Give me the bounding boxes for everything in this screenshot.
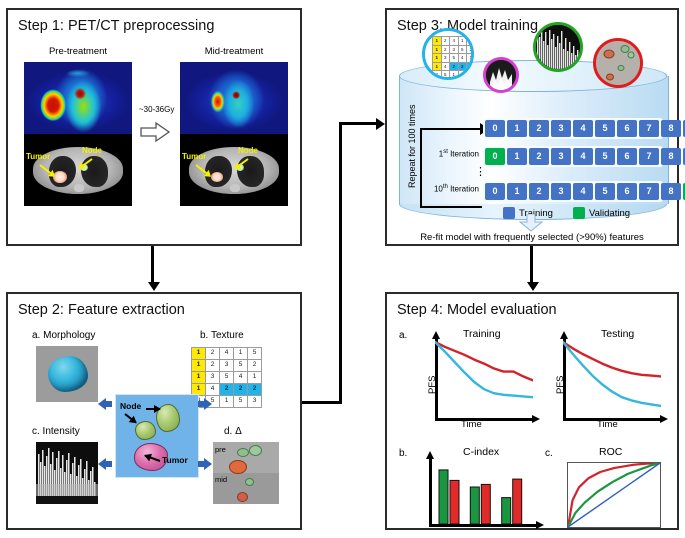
fold-cell: 5 <box>595 148 615 165</box>
connector-step2-to-step3-horizontal <box>339 122 379 125</box>
texture-cell: 1 <box>467 54 474 62</box>
mid-treatment-pet-image <box>180 62 288 134</box>
repeat-label: Repeat for 100 times <box>407 104 417 188</box>
connector-step3-to-step4 <box>530 246 533 284</box>
node-annotation-mid: Node <box>238 146 258 155</box>
fold-cell: 7 <box>639 148 659 165</box>
texture-cell: 5 <box>234 360 247 371</box>
fold-cell: 1 <box>507 148 527 165</box>
texture-cell: 2 <box>450 63 458 71</box>
refit-text: Re-fit model with frequently selected (>… <box>387 232 677 243</box>
fold-cell: 2 <box>529 120 549 137</box>
subpanel-letter-a: a. <box>399 330 407 341</box>
cindex-chart-title: C-index <box>463 446 499 458</box>
fold-cell: 2 <box>529 148 549 165</box>
texture-cell: 4 <box>459 54 467 62</box>
delta-mid-label: mid <box>215 475 227 484</box>
texture-cell: 1 <box>450 71 458 79</box>
fold-cell: 3 <box>551 120 571 137</box>
feature-arrow-texture <box>198 398 212 410</box>
fold-cell: 1 <box>507 183 527 200</box>
texture-cell: 4 <box>220 348 233 359</box>
texture-cell: 2 <box>206 348 219 359</box>
texture-cell: 3 <box>442 54 450 62</box>
texture-cell: 2 <box>248 384 261 395</box>
iteration-row-1: 0123456789 <box>485 148 685 165</box>
fold-cell: 4 <box>573 120 593 137</box>
intensity-histogram <box>36 442 98 504</box>
texture-cell: 5 <box>467 37 474 45</box>
texture-cell: 1 <box>433 46 441 54</box>
texture-label: b. Texture <box>200 330 244 341</box>
dose-label: ~30-36Gy <box>139 105 174 114</box>
training-x-label: Time <box>461 419 482 430</box>
texture-cell: 1 <box>220 396 233 407</box>
morphology-render <box>36 346 98 402</box>
testing-x-label: Time <box>597 419 618 430</box>
step1-title: Step 1: PET/CT preprocessing <box>18 18 214 34</box>
connector-step2-to-step3-vertical <box>339 122 342 404</box>
mid-treatment-scan: Mid-treatment Tumor Node <box>180 46 288 208</box>
delta-pre-label: pre <box>215 445 226 454</box>
fold-cell: 6 <box>617 183 637 200</box>
morphology-inset-icon <box>483 57 519 93</box>
node-pointer-2 <box>124 413 136 423</box>
fold-cell: 8 <box>661 183 681 200</box>
connector-step1-to-step2-head <box>148 282 160 291</box>
texture-cell: 2 <box>442 46 450 54</box>
connector-step1-to-step2 <box>151 246 154 284</box>
texture-cell: 4 <box>450 37 458 45</box>
texture-cell: 1 <box>433 54 441 62</box>
fold-cell: 5 <box>595 120 615 137</box>
fold-cell: 0 <box>485 120 505 137</box>
texture-cell: 2 <box>234 384 247 395</box>
fold-cell: 6 <box>617 148 637 165</box>
tumor-label-center: Tumor <box>162 455 188 465</box>
testing-km-curves <box>563 338 661 418</box>
texture-cell: 1 <box>192 372 205 383</box>
connector-step2-to-step3-head <box>376 118 385 130</box>
fold-cell: 1 <box>507 120 527 137</box>
texture-cell: 5 <box>442 71 450 79</box>
intensity-label: c. Intensity <box>32 426 80 437</box>
cindex-bars <box>429 458 537 524</box>
cindex-x-axis <box>429 524 537 527</box>
step2-title: Step 2: Feature extraction <box>18 302 185 318</box>
feature-arrow-delta <box>198 458 212 470</box>
cindex-bar <box>450 480 459 524</box>
loop-bracket-bottom <box>420 206 482 208</box>
texture-cell: 1 <box>234 348 247 359</box>
fold-cell: 0 <box>485 148 505 165</box>
legend-validating: Validating <box>573 207 630 219</box>
loop-bracket-top <box>420 128 482 130</box>
texture-cell: 4 <box>206 384 219 395</box>
tumor-annotation-pre: Tumor <box>26 152 50 161</box>
tumor-annotation-mid: Tumor <box>182 152 206 161</box>
fold-cell: 7 <box>639 183 659 200</box>
node-annotation-pre: Node <box>82 146 102 155</box>
connector-step3-to-step4-head <box>527 282 539 291</box>
morphology-label: a. Morphology <box>32 330 95 341</box>
feature-arrow-morphology <box>98 398 112 410</box>
delta-inset-icon <box>593 38 643 88</box>
step1-panel: Step 1: PET/CT preprocessing Pre-treatme… <box>6 8 302 246</box>
node-pointer-1 <box>146 408 160 410</box>
step4-title: Step 4: Model evaluation <box>397 302 557 318</box>
segmented-volume-render: Node Tumor <box>115 394 199 478</box>
texture-cell: 1 <box>433 37 441 45</box>
iteration-label-10: 10th Iteration <box>409 184 479 194</box>
iteration-ellipsis: ⋮ <box>475 167 486 178</box>
fold-cell: 8 <box>661 148 681 165</box>
texture-cell: 4 <box>442 63 450 71</box>
fold-cell: 7 <box>639 120 659 137</box>
texture-cell: 1 <box>192 360 205 371</box>
texture-cell: 5 <box>459 46 467 54</box>
pre-treatment-label: Pre-treatment <box>24 46 132 57</box>
texture-cell: 2 <box>467 46 474 54</box>
texture-cell: 4 <box>234 372 247 383</box>
cindex-bar <box>439 470 448 524</box>
iteration-row-0: 0123456789 <box>485 120 685 137</box>
texture-inset-icon: 1241512352135411422245153 <box>422 28 474 80</box>
texture-cell: 2 <box>459 63 467 71</box>
texture-cell: 3 <box>248 396 261 407</box>
pre-treatment-pet-image <box>24 62 132 134</box>
fold-cell: 2 <box>529 183 549 200</box>
texture-cell: 3 <box>220 360 233 371</box>
texture-cell: 1 <box>459 37 467 45</box>
texture-cell: 3 <box>206 372 219 383</box>
training-x-axis <box>435 418 533 421</box>
step2-panel: Step 2: Feature extraction a. Morphology… <box>6 292 302 530</box>
node-label-center: Node <box>120 401 141 411</box>
fold-cell: 5 <box>595 183 615 200</box>
texture-cell: 5 <box>248 348 261 359</box>
training-swatch <box>503 207 515 219</box>
pre-treatment-ct-image: Tumor Node <box>24 134 132 206</box>
texture-cell: 5 <box>450 54 458 62</box>
fold-cell: 0 <box>485 183 505 200</box>
iteration-label-1: 1st Iteration <box>415 149 479 159</box>
roc-curves <box>568 463 660 527</box>
fold-cell: 3 <box>551 183 571 200</box>
loop-bracket-vertical <box>420 128 422 208</box>
pre-treatment-scan: Pre-treatment Tumor Node <box>24 46 132 208</box>
texture-cell: 1 <box>192 348 205 359</box>
step3-panel: Step 3: Model training 12415123521354114… <box>385 8 679 246</box>
texture-cell: 2 <box>248 360 261 371</box>
texture-cell: 1 <box>248 372 261 383</box>
treatment-arrow-icon <box>140 122 166 138</box>
feature-arrow-intensity <box>98 458 112 470</box>
texture-cell: 3 <box>450 46 458 54</box>
texture-cell: 2 <box>442 37 450 45</box>
mid-treatment-label: Mid-treatment <box>180 46 288 57</box>
cindex-bar <box>513 479 522 524</box>
mid-treatment-ct-image: Tumor Node <box>180 134 288 206</box>
connector-step2-out <box>302 401 342 404</box>
intensity-inset-icon <box>533 22 583 72</box>
fold-cell: 4 <box>573 148 593 165</box>
texture-cell: 1 <box>433 63 441 71</box>
cindex-bar <box>502 498 511 524</box>
step3-title: Step 3: Model training <box>397 18 538 34</box>
texture-cell: 5 <box>220 372 233 383</box>
validating-swatch <box>573 207 585 219</box>
texture-cell: 2 <box>206 360 219 371</box>
delta-label: d. Δ <box>224 426 242 437</box>
delta-panel-image: pre mid <box>213 442 279 504</box>
fold-cell: 8 <box>661 120 681 137</box>
fold-cell: 4 <box>573 183 593 200</box>
cindex-bar <box>470 487 479 524</box>
texture-cell: 5 <box>234 396 247 407</box>
subpanel-letter-c: c. <box>545 448 553 459</box>
subpanel-letter-b: b. <box>399 448 407 459</box>
fold-cell: 6 <box>617 120 637 137</box>
training-km-curves <box>435 338 533 418</box>
roc-chart-title: ROC <box>599 446 622 458</box>
cindex-bar <box>481 484 490 524</box>
texture-cell: 2 <box>220 384 233 395</box>
iteration-row-2: 0123456789 <box>485 183 685 200</box>
fold-cell: 3 <box>551 148 571 165</box>
step4-panel: Step 4: Model evaluation a. Training PFS… <box>385 292 679 530</box>
